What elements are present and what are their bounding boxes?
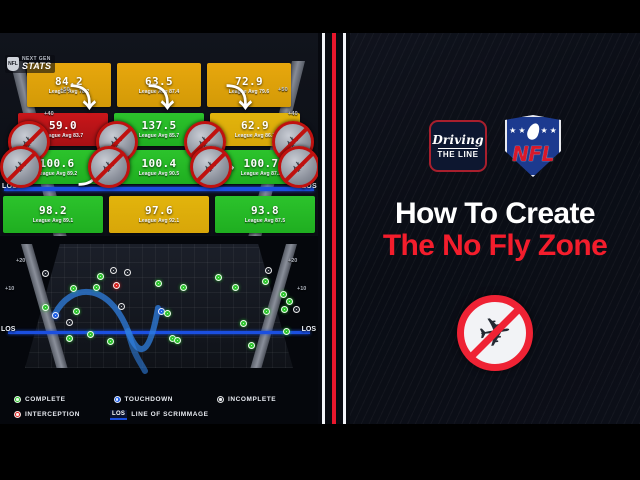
legend-item-complete: COMPLETE <box>14 396 66 403</box>
pass-outcome-dot-complete <box>87 331 94 338</box>
pass-outcome-dot-complete <box>262 278 269 285</box>
field-3d-view: +20+20+10+10 LOS LOS <box>0 236 318 388</box>
cell-value: 98.2 <box>39 205 67 216</box>
pass-outcome-dot-incomplete <box>66 319 73 326</box>
pass-outcome-dot-complete <box>232 284 239 291</box>
pass-outcome-dot-complete <box>73 308 80 315</box>
pass-outcome-dot-complete <box>97 273 104 280</box>
no-fly-badge: ✈ <box>190 146 232 188</box>
pass-outcome-dot-complete <box>66 335 73 342</box>
next-gen-stats-logo: NFL NEXT GEN STATS <box>5 55 55 73</box>
outcome-legend: COMPLETETOUCHDOWNINCOMPLETE INTERCEPTION… <box>0 388 318 424</box>
pass-outcome-dot-complete <box>174 337 181 344</box>
cell-value: 93.8 <box>251 205 279 216</box>
legend-row: INTERCEPTIONLOSLINE OF SCRIMMAGE <box>14 407 318 422</box>
pass-outcome-dot-complete <box>280 291 287 298</box>
pass-outcome-dot-touchdown <box>52 312 59 319</box>
cell-value: 97.6 <box>145 205 173 216</box>
field-3d-los-label-right: LOS <box>302 326 316 333</box>
star-icon: ★ <box>550 127 557 135</box>
pass-outcome-dot-incomplete <box>265 267 272 274</box>
title-card-panel: Driving THE LINE ★ ★ ★ ★ NFL How To Crea… <box>350 33 640 424</box>
legend-label: LINE OF SCRIMMAGE <box>131 411 208 418</box>
airplane-icon: ✈ <box>278 146 318 189</box>
title-line-2: The No Fly Zone <box>350 230 640 262</box>
divider-stripe-white-right <box>343 33 346 424</box>
divider-stripe-red <box>332 33 336 424</box>
no-fly-zone-icon: ✈ <box>457 295 533 371</box>
cell-value: 100.4 <box>141 158 176 169</box>
heatmap-cell-r4-c3: 93.8League Avg 87.5 <box>215 196 315 233</box>
annotation-arrow-icon: ⤵ <box>148 85 174 111</box>
nfl-stars-and-ball: ★ ★ ★ ★ <box>505 119 561 143</box>
star-icon: ★ <box>518 127 525 135</box>
dtl-script-text: Driving <box>432 134 483 146</box>
airplane-icon: ✈ <box>0 146 42 189</box>
cell-league-average: League Avg 89.1 <box>33 218 74 224</box>
pass-outcome-dot-incomplete <box>110 267 117 274</box>
cell-league-average: League Avg 87.2 <box>241 171 282 177</box>
cell-value: 100.7 <box>243 158 278 169</box>
legend-dot-complete <box>14 396 21 403</box>
pass-outcome-dot-complete <box>281 306 288 313</box>
cell-league-average: League Avg 90.5 <box>139 171 180 177</box>
legend-dot-interception <box>14 411 21 418</box>
field-3d-yard-label: +20 <box>288 258 297 264</box>
pass-outcome-dot-complete <box>286 298 293 305</box>
pass-outcome-dot-complete <box>248 342 255 349</box>
yard-marker-label: +40 <box>44 111 54 117</box>
field-3d-yard-label: +20 <box>16 258 25 264</box>
letterbox-bottom <box>0 424 640 480</box>
legend-los-badge: LOS <box>110 410 127 420</box>
pass-outcome-dot-interception <box>113 282 120 289</box>
nfl-wordmark: NFL <box>505 142 561 166</box>
cell-league-average: League Avg 87.5 <box>245 218 286 224</box>
football-icon <box>525 121 542 141</box>
pass-outcome-dot-complete <box>42 304 49 311</box>
cell-value: 59.0 <box>49 120 77 131</box>
star-icon: ★ <box>541 127 548 135</box>
legend-label: INTERCEPTION <box>25 411 80 418</box>
annotation-arrow-icon: ⤵ <box>70 85 96 111</box>
cell-value: 137.5 <box>141 120 176 131</box>
pass-outcome-dot-complete <box>180 284 187 291</box>
heatmap-row: 59.0League Avg 83.7137.5League Avg 85.76… <box>15 113 303 146</box>
pass-outcome-dot-complete <box>93 284 100 291</box>
pass-outcome-dot-complete <box>240 320 247 327</box>
heatmap-cell-r4-c1: 98.2League Avg 89.1 <box>3 196 103 233</box>
cell-league-average: League Avg 85.7 <box>139 133 180 139</box>
pass-outcome-dot-incomplete <box>124 269 131 276</box>
legend-row: COMPLETETOUCHDOWNINCOMPLETE <box>14 392 318 407</box>
pass-outcome-dot-complete <box>263 308 270 315</box>
field-3d-yard-label: +10 <box>5 286 14 292</box>
pass-outcome-dot-complete <box>155 280 162 287</box>
cell-league-average: League Avg 89.2 <box>37 171 78 177</box>
field-3d-yard-label: +10 <box>297 286 306 292</box>
no-fly-badge: ✈ <box>278 146 318 188</box>
airplane-icon: ✈ <box>190 146 233 189</box>
legend-item-interception: INTERCEPTION <box>14 411 80 418</box>
divider-stripe-white-left <box>322 33 325 424</box>
legend-label: COMPLETE <box>25 396 66 403</box>
letterbox-top <box>0 0 640 33</box>
yard-marker-label: +40 <box>288 111 298 117</box>
heatmap-row: 100.6League Avg 89.2100.4League Avg 90.5… <box>6 150 312 184</box>
pass-outcome-dot-incomplete <box>293 306 300 313</box>
legend-label: TOUCHDOWN <box>125 396 174 403</box>
legend-dot-touchdown <box>114 396 121 403</box>
heatmap-row: 98.2League Avg 89.197.6League Avg 92.193… <box>0 196 318 233</box>
nfl-logo: ★ ★ ★ ★ NFL <box>505 115 561 177</box>
ngs-line2: STATS <box>22 62 51 71</box>
title-line-1: How To Create <box>350 198 640 230</box>
legend-item-line-of-scrimmage: LOSLINE OF SCRIMMAGE <box>110 410 208 420</box>
logo-row: Driving THE LINE ★ ★ ★ ★ NFL <box>350 115 640 177</box>
cell-value: 100.6 <box>39 158 74 169</box>
annotation-arrow-icon: ⤵ <box>226 85 252 111</box>
star-icon: ★ <box>509 127 516 135</box>
line-of-scrimmage <box>4 187 314 191</box>
legend-dot-incomplete <box>217 396 224 403</box>
pass-outcome-dot-complete <box>215 274 222 281</box>
legend-item-incomplete: INCOMPLETE <box>217 396 276 403</box>
pass-outcome-dot-complete <box>107 338 114 345</box>
screenshot-root: +50+50+40+40+10+10 84.2League Avg 78.263… <box>0 0 640 480</box>
nfl-stats-panel: +50+50+40+40+10+10 84.2League Avg 78.263… <box>0 33 318 424</box>
no-fly-badge: ✈ <box>0 146 42 188</box>
driving-the-line-logo: Driving THE LINE <box>429 120 487 172</box>
pass-outcome-dot-complete <box>70 285 77 292</box>
dtl-divider-rule <box>438 148 478 149</box>
pass-outcome-dot-complete <box>164 310 171 317</box>
legend-item-touchdown: TOUCHDOWN <box>114 396 174 403</box>
heatmap-cell-r4-c2: 97.6League Avg 92.1 <box>109 196 209 233</box>
video-title: How To Create The No Fly Zone <box>350 198 640 263</box>
legend-label: INCOMPLETE <box>228 396 276 403</box>
dtl-line-text: THE LINE <box>437 151 478 159</box>
pass-outcome-dot-complete <box>283 328 290 335</box>
nfl-shield-icon: NFL <box>7 57 19 71</box>
cell-league-average: League Avg 92.1 <box>139 218 180 224</box>
no-fly-badge: ✈ <box>88 146 130 188</box>
yard-marker-label: +50 <box>278 87 288 93</box>
cell-league-average: League Avg 86.7 <box>235 133 276 139</box>
panel-divider <box>318 33 350 424</box>
pass-outcome-dot-incomplete <box>42 270 49 277</box>
airplane-icon: ✈ <box>460 298 530 368</box>
airplane-icon: ✈ <box>88 146 131 189</box>
passing-heatmap: +50+50+40+40+10+10 84.2League Avg 78.263… <box>0 33 318 236</box>
pass-outcome-dot-incomplete <box>118 303 125 310</box>
cell-value: 62.9 <box>241 120 269 131</box>
field-3d-los-label-left: LOS <box>1 326 15 333</box>
yard-marker-label: +50 <box>60 87 70 93</box>
